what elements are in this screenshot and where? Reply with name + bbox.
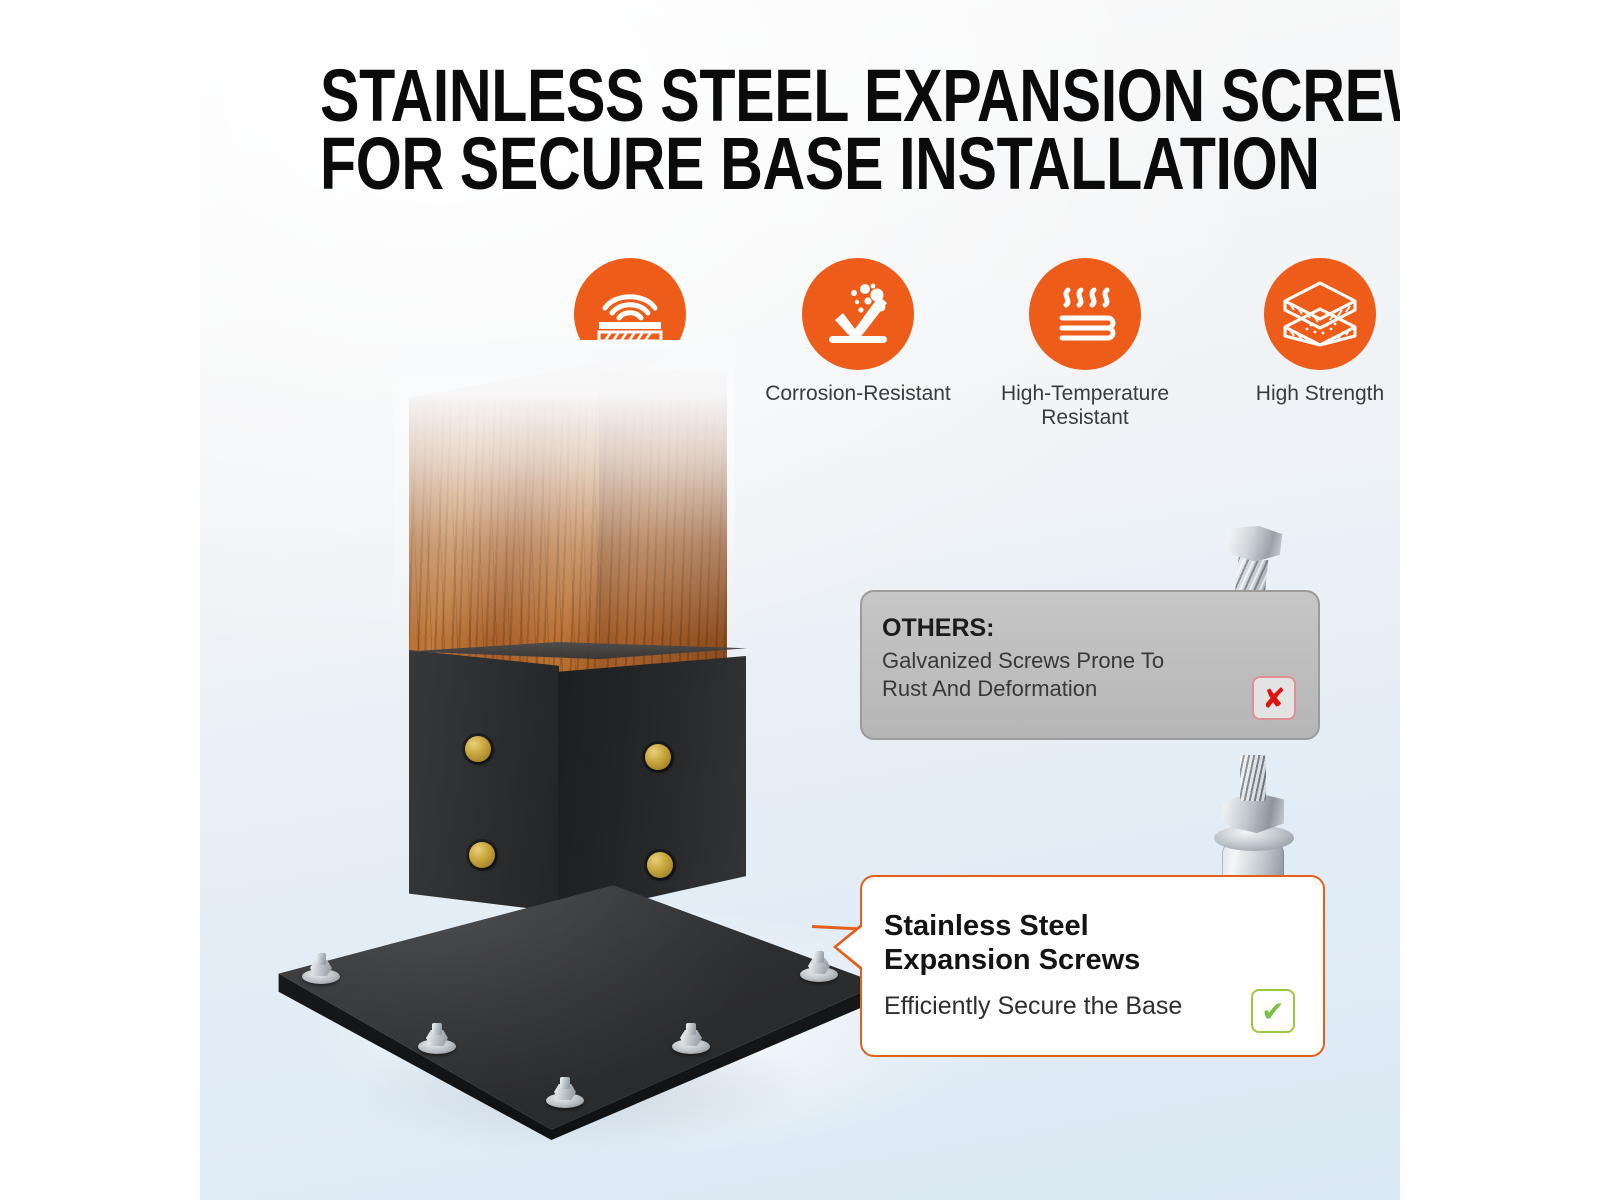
others-callout: OTHERS: Galvanized Screws Prone To Rust … [860,590,1320,740]
bracket-bolt [469,842,495,868]
artwork-canvas: STAINLESS STEEL EXPANSION SCREWS FOR SEC… [200,0,1400,1200]
headline-line-2: FOR SECURE BASE INSTALLATION [320,130,1280,198]
red-cross-badge-icon: ✘ [1252,676,1296,720]
headline-line-1: STAINLESS STEEL EXPANSION SCREWS [320,62,1280,130]
others-title: OTHERS: [882,614,995,643]
anchor-bolt [546,1074,584,1108]
others-line-2: Rust And Deformation [882,676,1097,702]
product-callout-subtitle: Efficiently Secure the Base [884,992,1182,1021]
product-infographic: STAINLESS STEEL EXPANSION SCREWS FOR SEC… [0,0,1600,1200]
product-callout: Stainless Steel Expansion Screws Efficie… [860,875,1325,1057]
product-callout-title: Stainless Steel Expansion Screws [884,909,1140,977]
post-fade-overlay [395,340,735,640]
post-base-bracket-with-wood-post [210,340,890,1180]
base-plate [260,880,880,1140]
bracket-bolt [465,736,491,762]
feature-label: High Strength [1220,382,1400,406]
others-line-1: Galvanized Screws Prone To [882,648,1164,674]
high-strength-icon [1264,258,1376,370]
anchor-bolt [302,950,340,984]
anchor-bolt [672,1020,710,1054]
bracket-bolt [647,852,673,878]
page-title: STAINLESS STEEL EXPANSION SCREWS FOR SEC… [200,62,1400,198]
high-temperature-resistant-icon [1029,258,1141,370]
bracket-bolt [645,744,671,770]
feature-item-high-strength: High Strength [1220,258,1400,406]
feature-item-high-temperature-resistant: High-Temperature Resistant [985,258,1185,429]
green-check-badge-icon: ✔ [1251,989,1295,1033]
callout-tail-inner [837,926,863,968]
feature-label: High-Temperature Resistant [985,382,1185,429]
anchor-bolt [418,1020,456,1054]
